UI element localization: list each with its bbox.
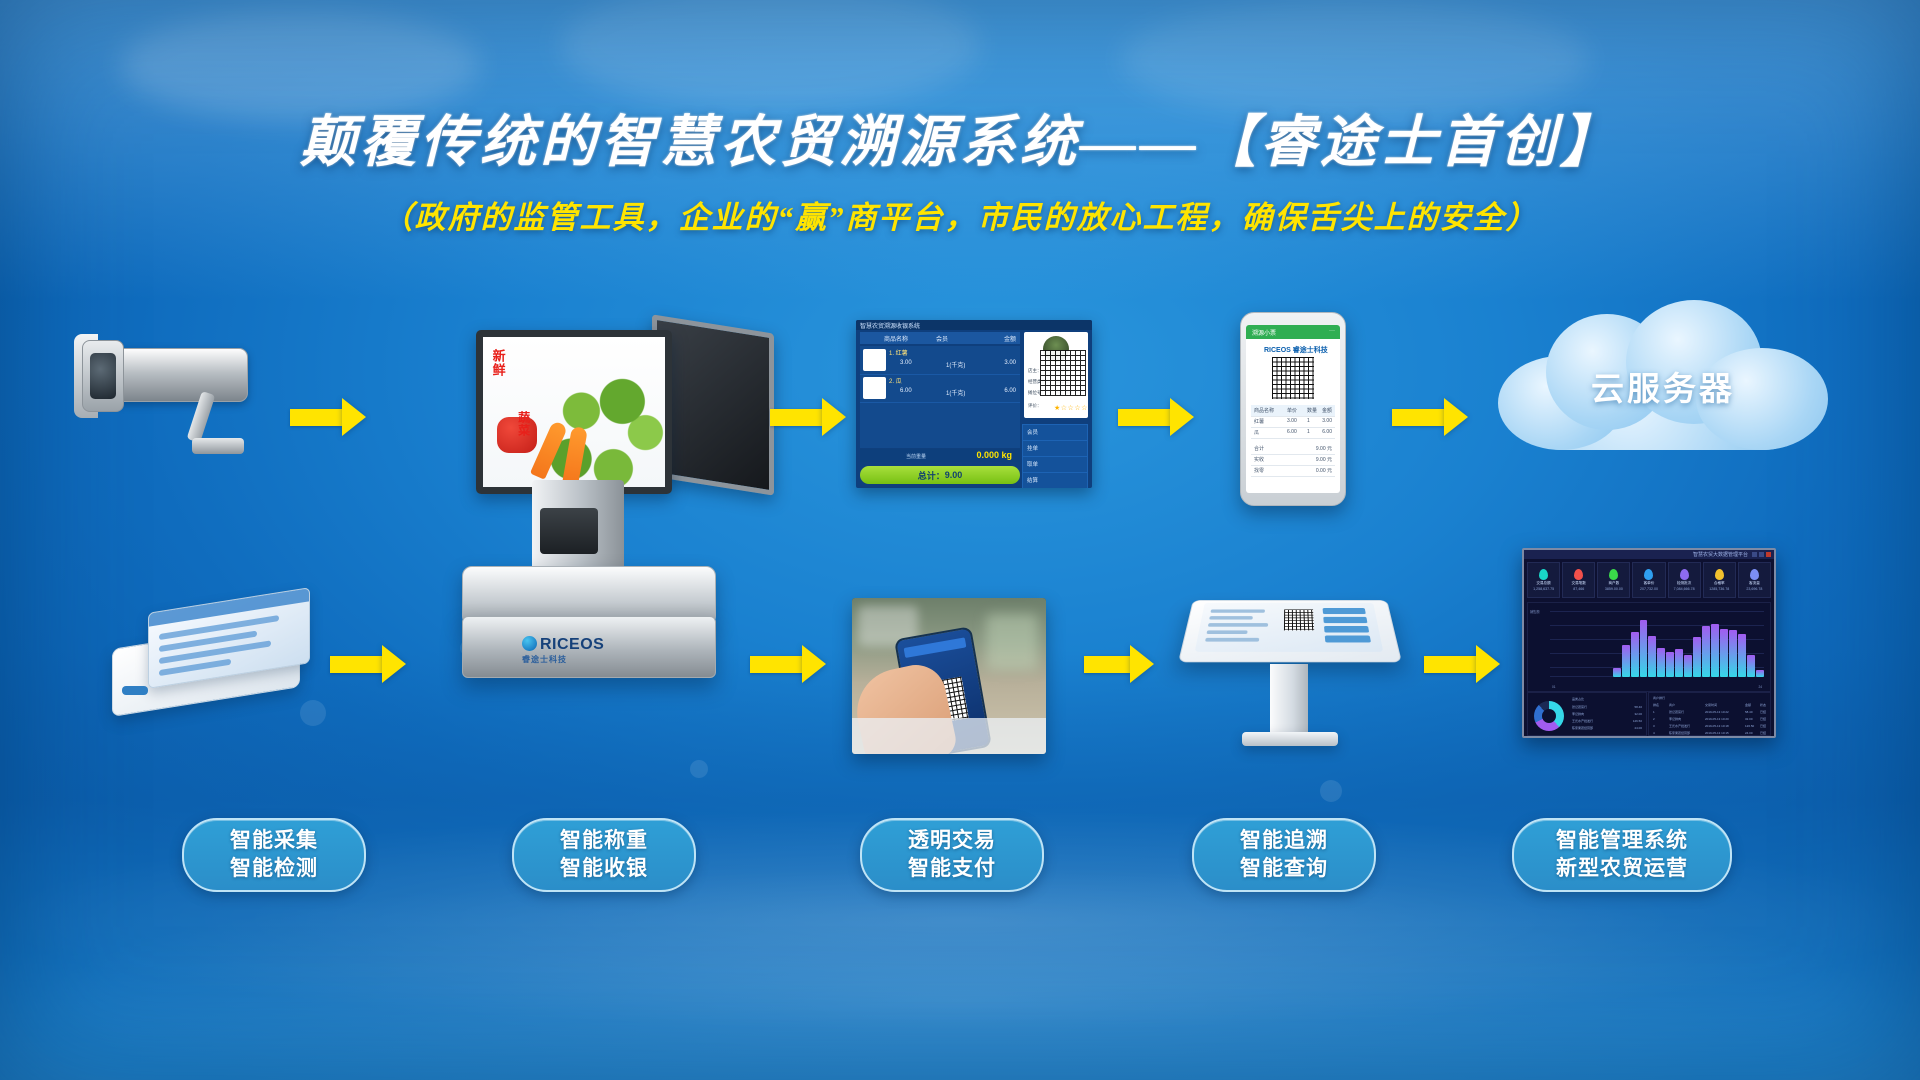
counter-surface (852, 718, 1046, 754)
brand-subtext: 睿途士科技 (522, 654, 604, 665)
cell: 6.00 (1287, 429, 1297, 435)
chart-bar (1729, 630, 1737, 677)
cell: 商品名称 (1254, 407, 1274, 414)
rating-stars-icon: ★☆☆☆☆ (1054, 404, 1088, 412)
kpi-dot-icon (1680, 569, 1689, 580)
cell: 58.40 (1745, 710, 1753, 714)
phone-screen[interactable]: 溯源小票 ··· RICEOS 睿途士科技 商品名称 单价 数量 金额 红薯 3… (1246, 325, 1340, 493)
phone-receipt-table: 商品名称 单价 数量 金额 红薯 3.00 1 3.00 瓜 6.00 1 6.… (1251, 405, 1335, 487)
mobile-payment (852, 598, 1046, 754)
kpi-dot-icon (1715, 569, 1724, 580)
col-merchant: 商户 (1669, 703, 1675, 707)
pos-col-name: 商品名称 (884, 334, 908, 343)
cell: 2 (1653, 717, 1655, 721)
table-row[interactable]: 2 李记鲜肉 2019-05-13 10:20 32.00 已结 (1649, 717, 1770, 721)
kpi-card[interactable]: 交易总额 1,258,637.75 (1527, 562, 1560, 598)
kpi-card[interactable]: 交易笔数 87,466 (1562, 562, 1595, 598)
cell: 红薯 (1254, 418, 1264, 425)
caption-line-1: 智能追溯 (1240, 828, 1328, 854)
total-value: 9.00 元 (1316, 456, 1332, 463)
arrow-right-icon (1424, 645, 1500, 683)
cell: 4 (1653, 731, 1655, 735)
dashboard-title: 智慧农贸大数据管理平台 (1693, 551, 1748, 558)
chart-bar (1720, 629, 1728, 677)
cell: 126.50 (1745, 724, 1754, 728)
kpi-card[interactable]: 商户数 3859.00.00 (1597, 562, 1630, 598)
kpi-dot-icon (1750, 569, 1759, 580)
kpi-label: 客单价 (1644, 581, 1655, 586)
item-qty: 3.00 (900, 360, 912, 366)
security-camera (108, 330, 288, 460)
pos-item-list[interactable]: 1. 红薯 3.00 1(千克) 3.00 2. 瓜 6.00 1(千克) 6.… (860, 346, 1020, 448)
minimize-icon[interactable] (1752, 552, 1757, 557)
pos-side-button-label: 取单 (1027, 460, 1038, 468)
pos-item-row[interactable]: 2. 瓜 6.00 1(千克) 6.00 (860, 374, 1020, 403)
page-title: 颠覆传统的智慧农贸溯源系统——【睿途士首创】 (0, 112, 1920, 175)
item-thumbnail-icon (863, 377, 886, 399)
table-row[interactable]: 4 陈家果蔬经营部 2019-05-13 10:15 24.00 已结 (1649, 731, 1770, 735)
chart-bar (1613, 668, 1621, 677)
cell: 1 (1307, 429, 1310, 435)
caption-pill-5[interactable]: 智能管理系统 新型农贸运营 (1512, 818, 1732, 892)
chart-bar (1657, 648, 1665, 677)
pos-side-button[interactable]: 挂单 (1022, 440, 1088, 457)
cell: 李记鲜肉 (1572, 712, 1584, 716)
kpi-card[interactable]: 客流量 23,696.78 (1738, 562, 1771, 598)
kpi-card[interactable]: 客单价 207,732.00 (1632, 562, 1665, 598)
caption-pill-1[interactable]: 智能采集 智能检测 (182, 818, 366, 892)
cell: 3.00 (1287, 418, 1297, 424)
phone-app-title: 溯源小票 (1252, 328, 1276, 337)
cell: 3.00 (1322, 418, 1332, 424)
chart-x-tick: 01 (1552, 685, 1556, 689)
pos-weight-value: 0.000 kg (976, 450, 1012, 460)
cell: 已结 (1760, 710, 1766, 714)
category-donut-panel: 品类占比 张记蔬菜行58.40 李记鲜肉32.00 王氏水产批发行126.50 … (1527, 692, 1647, 736)
cell: 32.00 (1745, 717, 1753, 721)
trend-bar-chart: 销售额 01 24 (1527, 602, 1771, 692)
arrow-right-icon (750, 645, 826, 683)
table-header-row: 排名 商户 交易时间 金额 状态 (1649, 703, 1770, 707)
pos-col-amount: 金额 (1004, 334, 1016, 343)
item-name: 2. 瓜 (889, 376, 902, 385)
trace-query-kiosk[interactable] (1186, 586, 1406, 756)
brand-logo: RICEOS 睿途士科技 (522, 636, 604, 665)
pos-table-header: 商品名称 会员 金额 (860, 332, 1020, 344)
cell: 李记鲜肉 (1669, 717, 1681, 721)
pos-side-button[interactable]: 会员 (1022, 424, 1088, 441)
chart-bar (1747, 655, 1755, 677)
cell: 2019-05-13 10:15 (1705, 731, 1729, 735)
chart-y-label: 销售额 (1530, 609, 1540, 614)
kpi-card[interactable]: 检测批次 7,084,666.78 (1668, 562, 1701, 598)
item-unit: 1(千克) (946, 388, 965, 397)
food-safety-detector (112, 600, 332, 720)
cell: 王氏水产批发行 (1572, 719, 1593, 723)
pos-weight-label: 当前重量 (906, 453, 926, 460)
caption-line-1: 智能管理系统 (1556, 828, 1688, 854)
kpi-value: 1285,736.78 (1709, 587, 1729, 591)
total-label: 实收 (1254, 456, 1264, 463)
table-row[interactable]: 1 张记蔬菜行 2019-05-13 10:22 58.40 已结 (1649, 710, 1770, 714)
kpi-dot-icon (1609, 569, 1618, 580)
phone-app-bar (904, 637, 967, 658)
cell: 1 (1307, 418, 1310, 424)
camera-lens-icon (82, 340, 124, 412)
caption-line-1: 透明交易 (908, 828, 996, 854)
panel-title: 商户排行 (1653, 696, 1665, 700)
dashboard-titlebar: 智慧农贸大数据管理平台 (1524, 550, 1774, 559)
cell: 陈家果蔬经营部 (1572, 726, 1593, 730)
cell: 6.00 (1322, 429, 1332, 435)
cell: 已结 (1760, 717, 1766, 721)
total-label: 找零 (1254, 467, 1264, 474)
panel-title: 品类占比 (1572, 697, 1584, 701)
pos-advert-screen: 新鲜 蔬菜 (476, 330, 672, 494)
col-status: 状态 (1760, 703, 1766, 707)
management-dashboard[interactable]: 智慧农贸大数据管理平台 交易总额 1,258,637.75 交易笔数 87,46… (1522, 548, 1776, 738)
kpi-label: 交易总额 (1536, 581, 1550, 586)
cell: 24.00 (1745, 731, 1753, 735)
qr-code-icon (1040, 350, 1086, 396)
merchant-list-panel[interactable]: 商户排行 排名 商户 交易时间 金额 状态 1 张记蔬菜行 2019-05-13… (1648, 692, 1771, 736)
arrow-right-icon (290, 398, 366, 436)
cell: 2019-05-13 10:18 (1705, 724, 1729, 728)
close-icon[interactable] (1766, 552, 1771, 557)
chart-bar (1631, 632, 1639, 677)
item-unit: 1(千克) (946, 360, 965, 369)
kpi-label: 客流量 (1749, 581, 1760, 586)
phone-total-row: 找零 0.00 元 (1251, 465, 1335, 477)
pos-checkout-screen[interactable]: 智慧农贸溯源收银系统 商品名称 会员 金额 1. 红薯 3.00 1(千克) 3… (856, 320, 1092, 488)
cell: 58.40 (1634, 705, 1642, 709)
kpi-label: 交易笔数 (1572, 581, 1586, 586)
cell: 瓜 (1254, 429, 1259, 436)
item-amount: 6.00 (1004, 388, 1016, 394)
camera-body-icon (108, 348, 248, 402)
page-title-text: 颠覆传统的智慧农贸溯源系统——【睿途士首创】 (0, 112, 1920, 175)
cell: 单价 (1287, 407, 1297, 414)
item-amount: 3.00 (1004, 360, 1016, 366)
cell: 已结 (1760, 724, 1766, 728)
detector-button[interactable] (122, 686, 148, 695)
phone-more-icon[interactable]: ··· (1329, 328, 1335, 334)
kpi-value: 207,732.00 (1640, 587, 1658, 591)
brand-mark-icon (522, 636, 537, 651)
cell: 126.50 (1633, 719, 1642, 723)
kpi-dot-icon (1539, 569, 1548, 580)
qr-code-icon (1272, 357, 1314, 399)
total-label: 合计 (1254, 445, 1264, 452)
pos-side-button-label: 会员 (1027, 428, 1038, 436)
pos-total-value: 9.00 (945, 470, 963, 480)
item-name: 1. 红薯 (889, 348, 908, 357)
item-qty: 6.00 (900, 388, 912, 394)
caption-line-2: 新型农贸运营 (1556, 856, 1688, 882)
pos-printer-icon (540, 508, 598, 554)
chart-bar (1756, 670, 1764, 677)
phone-statusbar: 溯源小票 ··· (1246, 325, 1340, 339)
cell: 2019-05-13 10:20 (1705, 717, 1729, 721)
cell: 张记蔬菜行 (1572, 705, 1587, 709)
kpi-dot-icon (1644, 569, 1653, 580)
arrow-right-icon (1118, 398, 1194, 436)
arrow-right-icon (1084, 645, 1154, 683)
pos-total-bar[interactable]: 总计： 9.00 (860, 466, 1020, 484)
chart-x-tick: 24 (1758, 685, 1762, 689)
cell: 1 (1653, 710, 1655, 714)
kpi-value: 23,696.78 (1746, 587, 1762, 591)
cell: 张记蔬菜行 (1669, 710, 1684, 714)
kpi-value: 87,466 (1573, 587, 1584, 591)
kpi-value: 7,084,666.78 (1674, 587, 1695, 591)
chart-bar (1675, 649, 1683, 677)
col-rank: 排名 (1653, 703, 1659, 707)
page-subtitle: （政府的监管工具，企业的“赢”商平台，市民的放心工程，确保舌尖上的安全） (0, 192, 1920, 237)
kpi-card[interactable]: 合格率 1285,736.78 (1703, 562, 1736, 598)
kpi-label: 商户数 (1608, 581, 1619, 586)
item-thumbnail-icon (863, 349, 886, 371)
arrow-right-icon (330, 645, 406, 683)
maximize-icon[interactable] (1759, 552, 1764, 557)
kpi-label: 合格率 (1714, 581, 1725, 586)
chart-bar (1640, 620, 1648, 677)
qr-code-icon (1284, 609, 1314, 630)
table-row: 瓜 6.00 1 6.00 (1251, 427, 1335, 439)
consumer-phone[interactable]: 溯源小票 ··· RICEOS 睿途士科技 商品名称 单价 数量 金额 红薯 3… (1240, 312, 1346, 506)
cell: 32.00 (1634, 712, 1642, 716)
kpi-dot-icon (1574, 569, 1583, 580)
caption-line-2: 智能查询 (1240, 856, 1328, 882)
caption-line-2: 智能检测 (230, 856, 318, 882)
cell: 24.00 (1634, 726, 1642, 730)
caption-pill-3[interactable]: 透明交易 智能支付 (860, 818, 1044, 892)
chart-bar (1684, 655, 1692, 677)
caption-pill-2[interactable]: 智能称重 智能收银 (512, 818, 696, 892)
caption-line-1: 智能称重 (560, 828, 648, 854)
chart-bar (1666, 652, 1674, 677)
pos-window-title: 智慧农贸溯源收银系统 (860, 321, 920, 330)
kiosk-stand-icon (1270, 664, 1308, 738)
kiosk-base-icon (1242, 732, 1338, 746)
page-subtitle-text: （政府的监管工具，企业的“赢”商平台，市民的放心工程，确保舌尖上的安全） (0, 192, 1920, 237)
pos-col-member: 会员 (936, 334, 948, 343)
cell: 金额 (1322, 407, 1332, 414)
total-value: 0.00 元 (1316, 467, 1332, 474)
infographic-canvas: 颠覆传统的智慧农贸溯源系统——【睿途士首创】 （政府的监管工具，企业的“赢”商平… (0, 0, 1920, 1080)
kpi-value: 1,258,637.75 (1533, 587, 1554, 591)
pos-side-button[interactable]: 结算 (1022, 472, 1088, 488)
chart-bar (1711, 624, 1719, 677)
kpi-label: 检测批次 (1677, 581, 1691, 586)
caption-line-1: 智能采集 (230, 828, 318, 854)
cell: 已结 (1760, 731, 1766, 735)
chart-bars (1550, 611, 1764, 677)
cell: 数量 (1307, 407, 1317, 414)
pos-side-button-label: 结算 (1027, 476, 1038, 484)
col-amount: 金额 (1745, 703, 1751, 707)
chart-bar (1702, 626, 1710, 677)
pos-scale-terminal: 新鲜 蔬菜 RICEOS 睿途士科技 (476, 330, 776, 690)
cell: 3 (1653, 724, 1655, 728)
table-row[interactable]: 3 王氏水产批发行 2019-05-13 10:18 126.50 已结 (1649, 724, 1770, 728)
kpi-value: 3859.00.00 (1605, 587, 1623, 591)
kiosk-screen[interactable] (1195, 603, 1384, 652)
arrow-right-icon (770, 398, 846, 436)
chart-bar (1693, 637, 1701, 677)
pos-weight-readout: 当前重量 0.000 kg (860, 449, 1020, 462)
cell: 王氏水产批发行 (1669, 724, 1690, 728)
camera-mount-icon (192, 438, 244, 454)
total-value: 9.00 元 (1316, 445, 1332, 452)
arrow-right-icon (1392, 398, 1468, 436)
chart-bar (1738, 634, 1746, 677)
cell: 2019-05-13 10:22 (1705, 710, 1729, 714)
shelf-blur (986, 614, 1038, 670)
pos-window-titlebar: 智慧农贸溯源收银系统 (856, 320, 1092, 330)
phone-brand-label: RICEOS 睿途士科技 (1264, 345, 1328, 355)
dashboard-kpi-row: 交易总额 1,258,637.75 交易笔数 87,466 商户数 3859.0… (1527, 562, 1771, 598)
cloud-server-label: 云服务器 (1498, 362, 1828, 410)
merchant-rating-label: 评价： (1028, 403, 1042, 409)
pos-advert-subhead: 蔬菜 (517, 411, 530, 465)
pos-side-button-label: 挂单 (1027, 444, 1038, 452)
col-time: 交易时间 (1705, 703, 1717, 707)
chart-bar (1648, 636, 1656, 677)
chart-bar (1622, 645, 1630, 677)
window-controls[interactable] (1752, 552, 1771, 557)
caption-pill-4[interactable]: 智能追溯 智能查询 (1192, 818, 1376, 892)
caption-line-2: 智能收银 (560, 856, 648, 882)
cloud-server: 云服务器 (1498, 300, 1828, 450)
cell: 陈家果蔬经营部 (1669, 731, 1690, 735)
pos-item-row[interactable]: 1. 红薯 3.00 1(千克) 3.00 (860, 346, 1020, 375)
caption-line-2: 智能支付 (908, 856, 996, 882)
pos-total-label: 总计： (918, 469, 945, 482)
pos-advert-headline: 新鲜 (491, 349, 505, 445)
pos-side-button[interactable]: 取单 (1022, 456, 1088, 473)
